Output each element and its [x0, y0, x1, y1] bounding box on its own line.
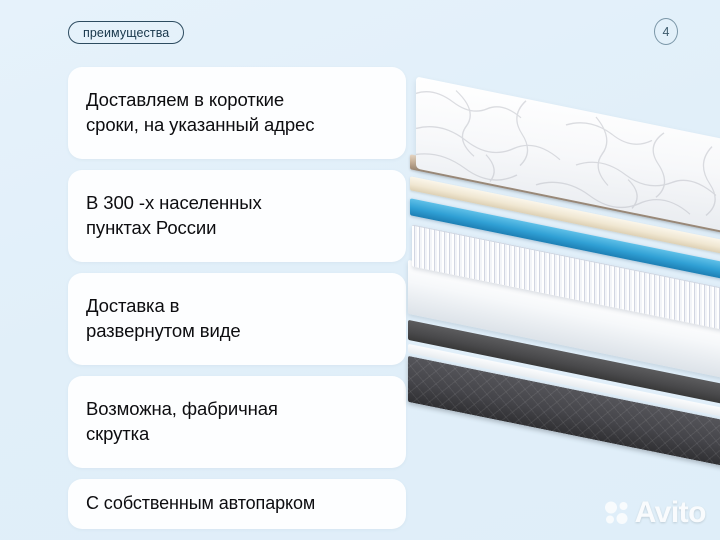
mattress-cutaway-illustration [408, 92, 720, 512]
benefit-card-text: С собственным автопарком [86, 492, 315, 516]
benefits-card-list: Доставляем в короткие сроки, на указанны… [68, 67, 406, 540]
avito-watermark: Avito [604, 498, 706, 528]
benefit-card: Возможна, фабричная скрутка [68, 376, 406, 468]
avito-logo-icon [604, 500, 630, 526]
benefit-card: Доставка в развернутом виде [68, 273, 406, 365]
benefit-card-text: Возможна, фабричная скрутка [86, 397, 278, 446]
avito-watermark-text: Avito [635, 498, 706, 528]
benefit-card: В 300 -х населенных пунктах России [68, 170, 406, 262]
benefit-card-text: Доставляем в короткие сроки, на указанны… [86, 88, 314, 137]
benefit-card-text: В 300 -х населенных пунктах России [86, 191, 262, 240]
benefit-card-text: Доставка в развернутом виде [86, 294, 241, 343]
benefit-card: С собственным автопарком [68, 479, 406, 529]
slide-canvas: преимущества 4 Доставляем в короткие сро… [0, 0, 720, 540]
section-tag-badge: преимущества [68, 21, 184, 44]
benefit-card: Доставляем в короткие сроки, на указанны… [68, 67, 406, 159]
page-number-badge: 4 [654, 18, 678, 45]
